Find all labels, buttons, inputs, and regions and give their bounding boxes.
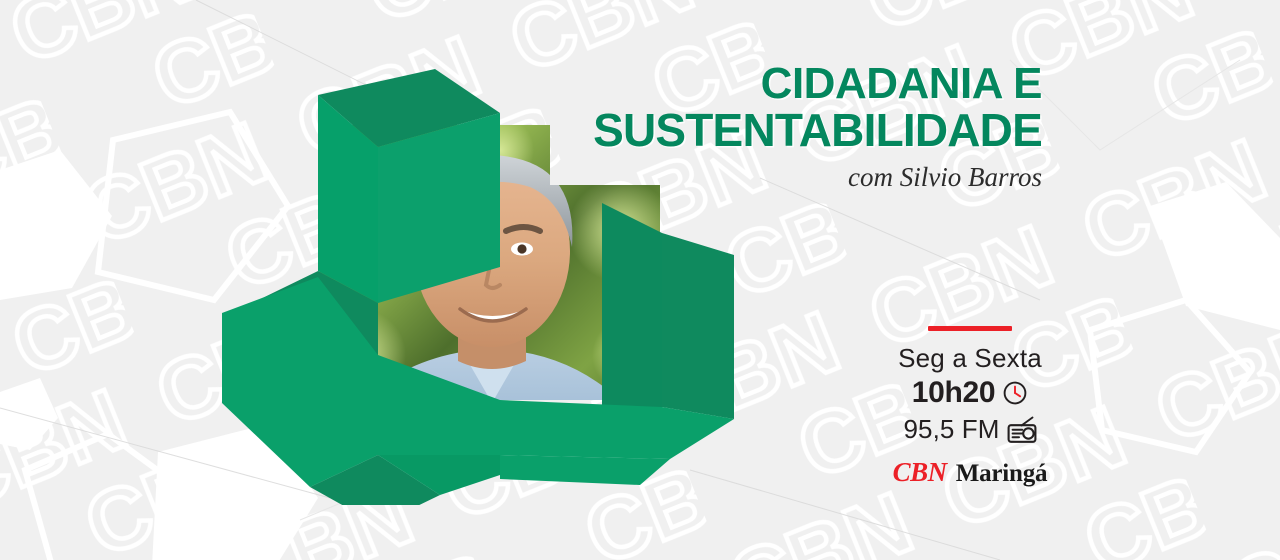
schedule-time: 10h20: [912, 376, 996, 410]
emblem-block-bottom-right: [500, 455, 670, 485]
station-mark: CBN: [893, 457, 947, 488]
radio-icon: [1007, 416, 1037, 444]
schedule-time-row: 10h20: [880, 376, 1060, 410]
station-city: Maringá: [956, 460, 1048, 488]
schedule-days: Seg a Sexta: [880, 345, 1060, 372]
program-title-line-2: SUSTENTABILIDADE: [402, 107, 1042, 154]
station-logo: CBN Maringá: [880, 457, 1060, 488]
schedule-block: Seg a Sexta 10h20 95,5 FM CBN Maringá: [880, 326, 1060, 488]
emblem-block-right-side: [662, 233, 734, 419]
clock-icon: [1002, 380, 1028, 406]
program-title-line-1: CIDADANIA E: [402, 62, 1042, 107]
program-title-block: CIDADANIA E SUSTENTABILIDADE com Silvio …: [402, 62, 1042, 193]
accent-rule: [928, 326, 1012, 331]
program-host-label: com Silvio Barros: [402, 162, 1042, 193]
emblem-block-right-front: [602, 203, 662, 437]
schedule-frequency-row: 95,5 FM: [880, 414, 1060, 445]
schedule-frequency: 95,5 FM: [903, 414, 999, 445]
program-banner: CBN CBN: [0, 0, 1280, 560]
